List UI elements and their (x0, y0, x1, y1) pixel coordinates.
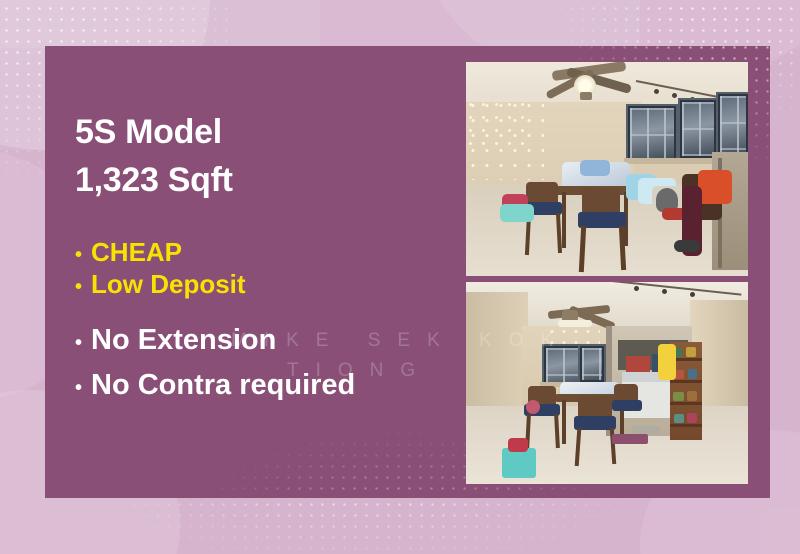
ceiling-fan-motor (580, 92, 592, 100)
rack-item (686, 347, 696, 357)
list-item-label: No Extension (91, 318, 276, 363)
rack-item (673, 392, 684, 401)
photo-living-dining-room-upper (466, 62, 748, 276)
headline-size: 1,323 Sqft (75, 156, 465, 204)
rack-item (687, 413, 697, 423)
list-spacer (75, 300, 465, 318)
fairy-light-curtain (466, 98, 528, 146)
photo-living-dining-room-lower (466, 282, 748, 484)
kitchen-item (626, 356, 650, 372)
track-light (662, 289, 667, 294)
window-mid (678, 98, 718, 160)
list-item-low-deposit: • Low Deposit (75, 268, 465, 300)
track-light (634, 286, 639, 291)
shoes (674, 240, 700, 252)
bullet-dot-icon: • (75, 245, 82, 265)
step-stool (502, 448, 536, 478)
floor-mat (632, 426, 660, 434)
list-item-label: No Contra required (91, 363, 355, 408)
text-column: 5S Model 1,323 Sqft • CHEAP • Low Deposi… (75, 108, 465, 408)
pink-item (526, 400, 540, 414)
red-toy (508, 438, 528, 452)
bullet-dot-icon: • (75, 378, 82, 398)
bullet-dot-icon: • (75, 333, 82, 353)
rack-shelf (670, 380, 702, 383)
rack-item (688, 369, 697, 379)
list-item-no-extension: • No Extension (75, 318, 465, 363)
rack-item (687, 391, 697, 401)
list-item-label: Low Deposit (91, 268, 246, 300)
rack-shelf (670, 402, 702, 405)
list-item-label: CHEAP (91, 236, 182, 268)
window-grille (720, 96, 746, 154)
rack-item (674, 414, 684, 423)
chair-seat (612, 400, 642, 411)
list-item-cheap: • CHEAP (75, 236, 465, 268)
window-grille (582, 348, 602, 380)
headline-model: 5S Model (75, 108, 465, 156)
yellow-garment (658, 344, 676, 380)
window-left (626, 104, 678, 162)
rack-shelf (670, 424, 702, 427)
track-light (690, 292, 695, 297)
window-right (716, 92, 748, 158)
track-light (654, 89, 659, 94)
table-clutter (580, 160, 610, 176)
table-leg (562, 400, 566, 444)
photo-scene (466, 62, 748, 276)
photo-scene (466, 282, 748, 484)
table-leg (562, 192, 566, 248)
feature-list: • CHEAP • Low Deposit • No Extension • N… (75, 236, 465, 408)
list-item-no-contra: • No Contra required (75, 363, 465, 408)
floor-mat (612, 434, 648, 444)
orange-bag (698, 170, 732, 204)
track-light (672, 93, 677, 98)
window (578, 344, 606, 384)
window-grille (682, 102, 714, 156)
window-grille (630, 108, 674, 158)
bullet-dot-icon: • (75, 277, 82, 297)
teal-stool (500, 204, 534, 222)
